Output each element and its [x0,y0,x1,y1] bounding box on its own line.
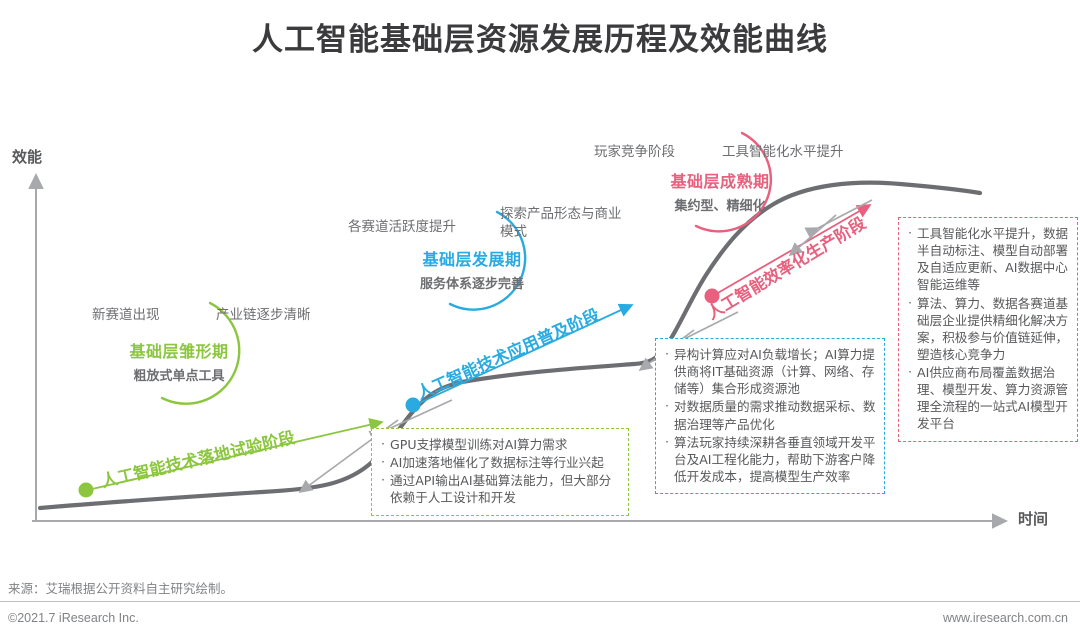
bullet-icon: · [376,454,390,470]
y-axis-label: 效能 [12,146,42,167]
note-player-competition: 玩家竞争阶段 [594,140,675,160]
bullet-icon: · [376,436,390,452]
stage-dot-blue [406,398,421,413]
copyright-text: ©2021.7 iResearch Inc. [8,611,139,625]
phase-embryonic-title: 基础层雏形期 [129,338,228,362]
bullet-icon: · [376,472,390,488]
phase-growth: 基础层发展期 服务体系逐步完善 [404,246,540,292]
callout-blue: ·异构计算应对AI负载增长；AI算力提供商将IT基础资源（计算、网络、存储等）集… [655,338,885,494]
source-line: 来源：艾瑞根据公开资料自主研究绘制。 [8,578,233,597]
note-industry-chain: 产业链逐步清晰 [216,303,311,323]
phase-growth-subtitle: 服务体系逐步完善 [420,273,524,292]
stage-dot-green [79,483,94,498]
bullet-icon: · [660,346,674,362]
phase-mature-title: 基础层成熟期 [670,168,769,192]
callout-pink-list: ·工具智能化水平提升，数据半自动标注、模型自动部署及自适应更新、AI数据中心智能… [903,225,1069,433]
bullet-icon: · [903,225,917,241]
bullet-icon: · [903,364,917,380]
list-item: ·AI加速落地催化了数据标注等行业兴起 [376,454,620,471]
callout-green: ·GPU支撑模型训练对AI算力需求 ·AI加速落地催化了数据标注等行业兴起 ·通… [371,428,629,516]
note-explore-model: 探索产品形态与商业模式 [500,206,630,241]
phase-mature-subtitle: 集约型、精细化 [674,195,765,214]
list-item: ·算法玩家持续深耕各垂直领域开发平台及AI工程化能力，帮助下游客户降低开发成本，… [660,434,876,485]
phase-growth-title: 基础层发展期 [422,246,521,270]
x-axis-label: 时间 [1018,508,1048,529]
bullet-icon: · [660,398,674,414]
list-item: ·算法、算力、数据各赛道基础层企业提供精细化解决方案，积极参与价值链延伸，塑造核… [903,295,1069,364]
list-item: ·工具智能化水平提升，数据半自动标注、模型自动部署及自适应更新、AI数据中心智能… [903,225,1069,294]
note-track-activity: 各赛道活跃度提升 [348,215,456,235]
bullet-icon: · [660,434,674,450]
footer-divider [0,601,1080,602]
list-item: ·对数据质量的需求推动数据采标、数据治理等产品优化 [660,398,876,432]
phase-embryonic-subtitle: 粗放式单点工具 [133,365,224,384]
callout-green-list: ·GPU支撑模型训练对AI算力需求 ·AI加速落地催化了数据标注等行业兴起 ·通… [376,436,620,507]
website-link[interactable]: www.iresearch.com.cn [943,611,1068,625]
callout-blue-list: ·异构计算应对AI负载增长；AI算力提供商将IT基础资源（计算、网络、存储等）集… [660,346,876,485]
list-item: ·AI供应商布局覆盖数据治理、模型开发、算力资源管理全流程的一站式AI模型开发平… [903,364,1069,433]
phase-mature: 基础层成熟期 集约型、精细化 [650,168,790,214]
phase-embryonic: 基础层雏形期 粗放式单点工具 [114,338,244,384]
bullet-icon: · [903,295,917,311]
callout-pink: ·工具智能化水平提升，数据半自动标注、模型自动部署及自适应更新、AI数据中心智能… [898,217,1078,442]
note-new-track: 新赛道出现 [92,303,160,323]
list-item: ·异构计算应对AI负载增长；AI算力提供商将IT基础资源（计算、网络、存储等）集… [660,346,876,397]
note-tool-intelligence: 工具智能化水平提升 [722,140,844,160]
list-item: ·通过API输出AI基础算法能力，但大部分依赖于人工设计和开发 [376,472,620,506]
list-item: ·GPU支撑模型训练对AI算力需求 [376,436,620,453]
infographic-root: 人工智能基础层资源发展历程及效能曲线 [0,0,1080,639]
